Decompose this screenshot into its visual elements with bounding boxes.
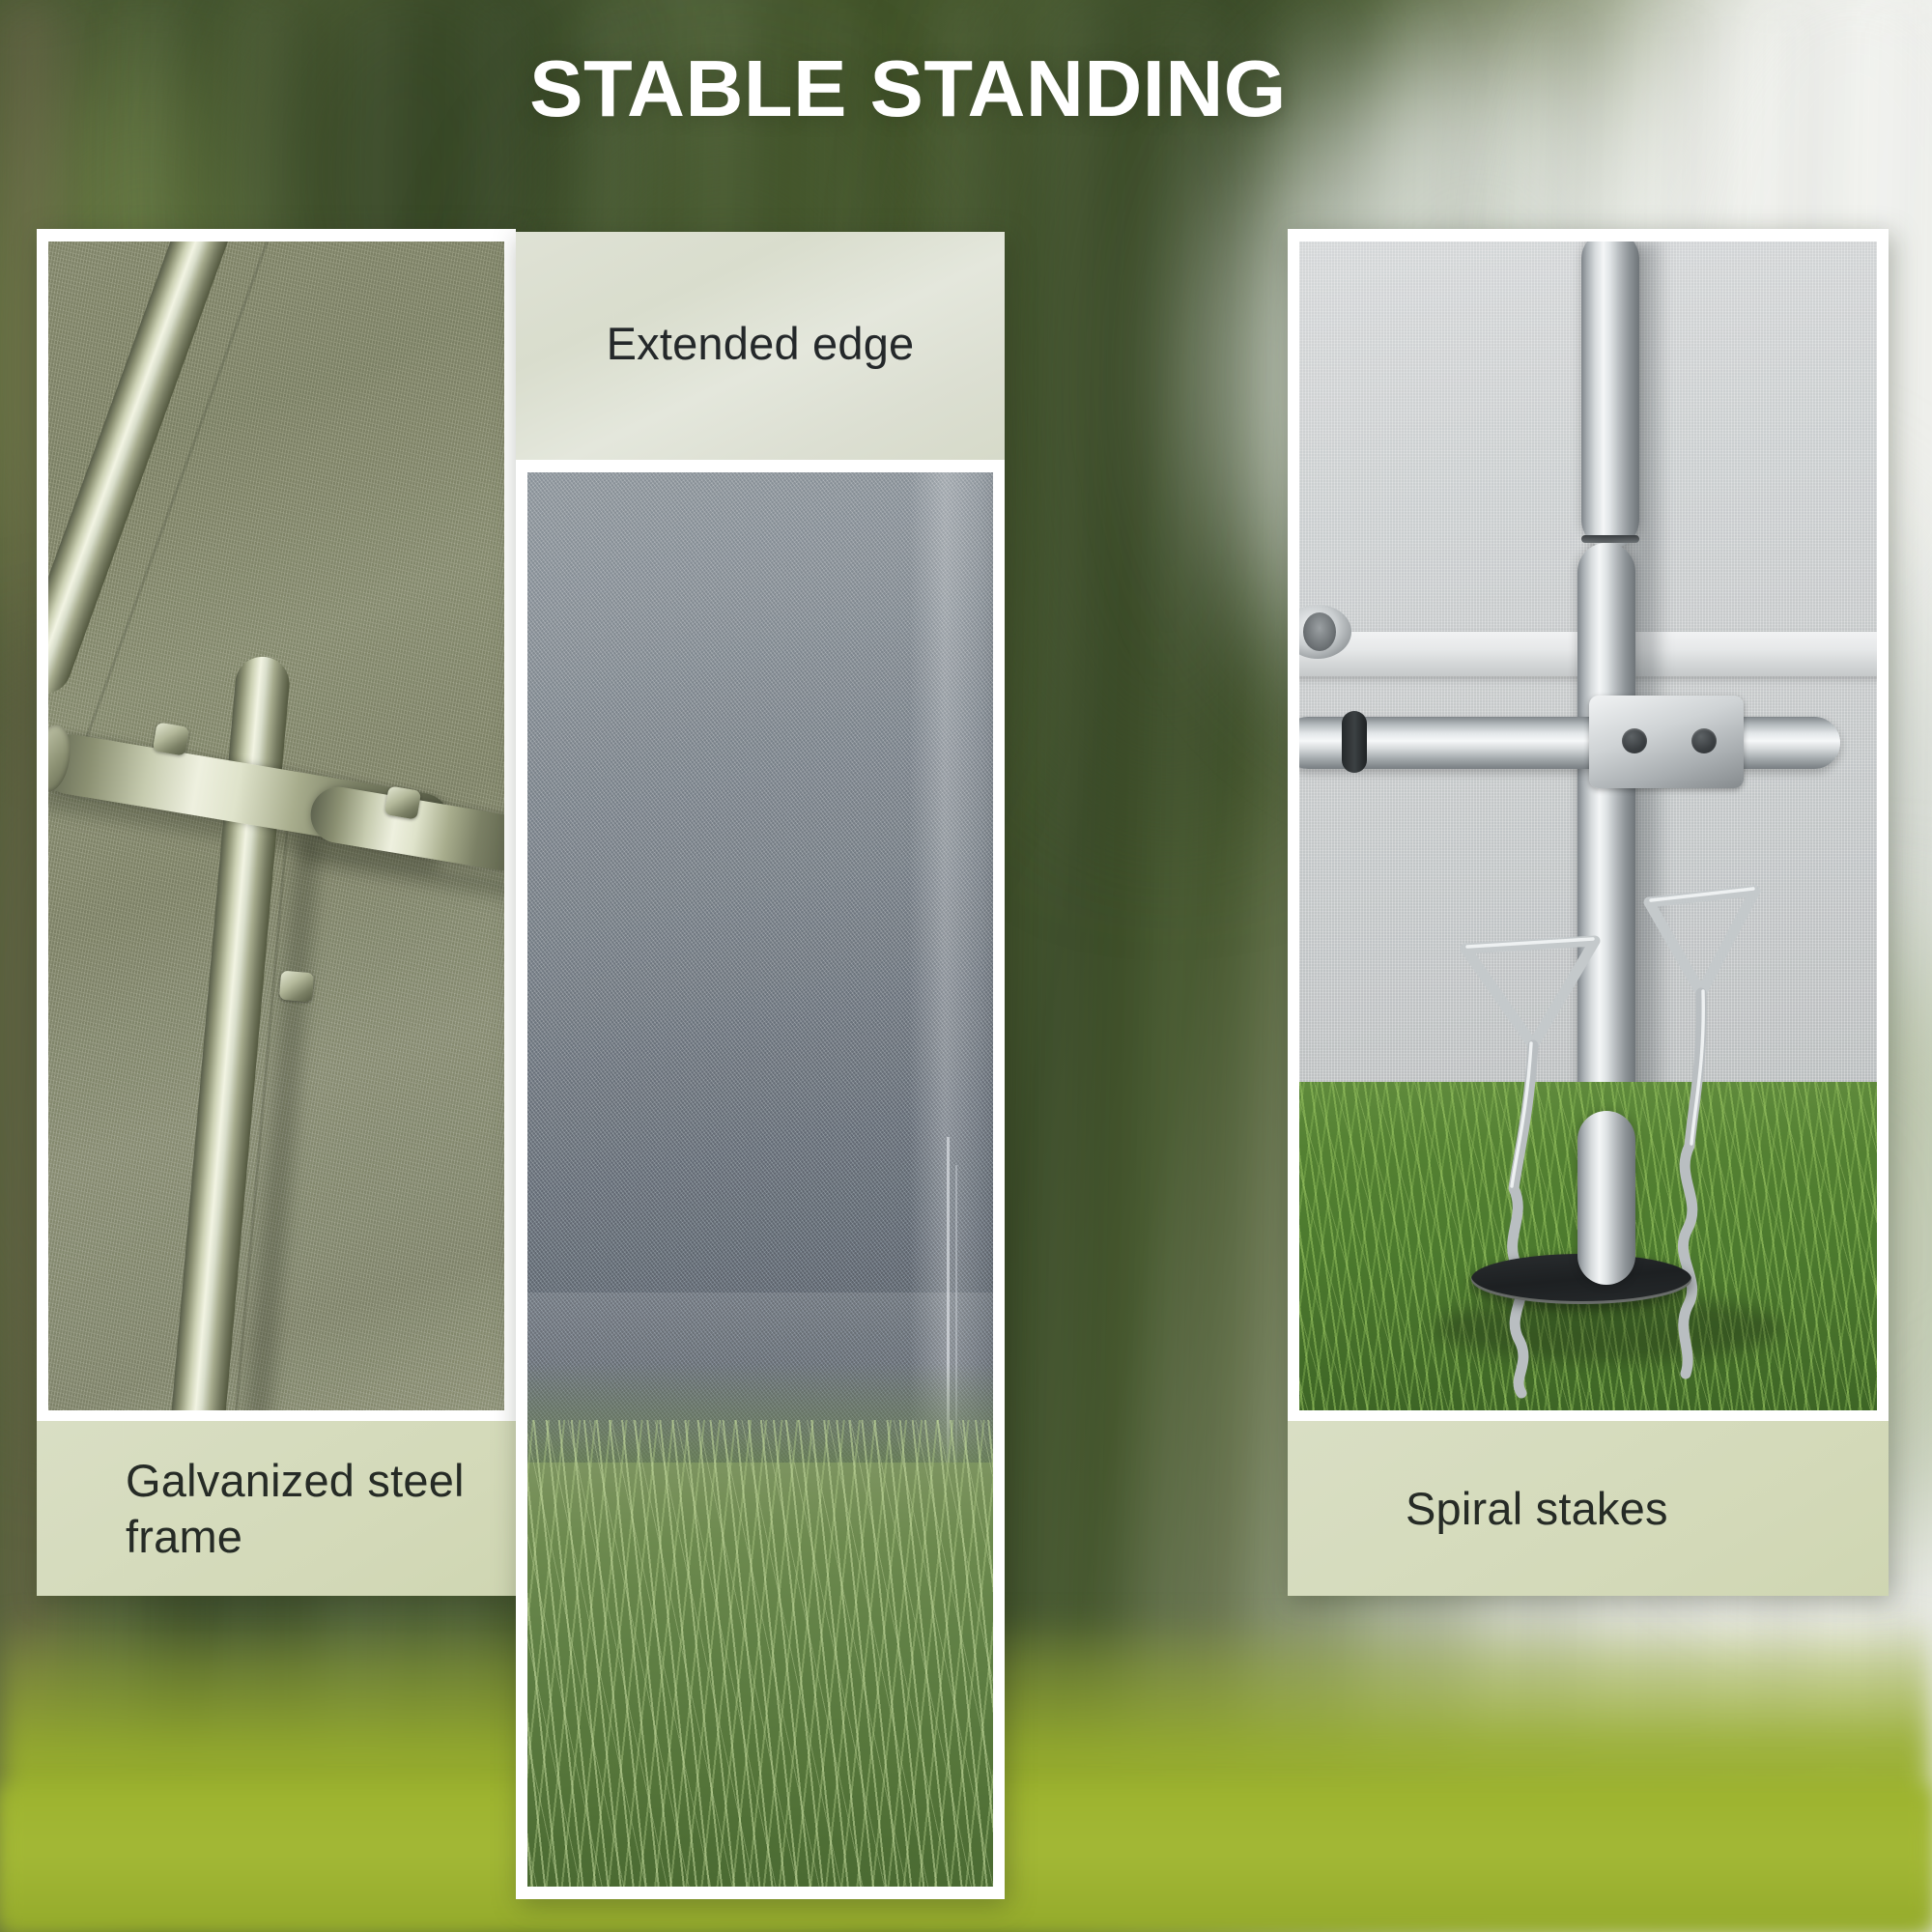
hex-bolt-lower — [279, 971, 314, 1003]
panel-spiral-stakes[interactable]: Spiral stakes — [1288, 229, 1889, 1811]
galvanized-steel-frame-photo — [48, 241, 504, 1410]
panel-galvanized-steel-frame[interactable]: Galvanized steel frame — [37, 229, 516, 1811]
hex-bolt-upper — [153, 722, 189, 755]
left-photo-frame — [37, 229, 516, 1421]
right-caption-bar: Spiral stakes — [1288, 1421, 1889, 1596]
pole-joint-seam — [1581, 535, 1639, 543]
hex-bolt-right — [384, 785, 421, 819]
bracket-hole-right — [1691, 728, 1717, 753]
caption-galvanized-steel-frame: Galvanized steel frame — [126, 1453, 516, 1564]
rubber-ring — [1342, 711, 1367, 773]
panel-extended-edge[interactable]: Extended edge — [516, 232, 1005, 1874]
page-title: STABLE STANDING — [0, 48, 1932, 128]
bracket-hole-left — [1622, 728, 1647, 753]
caption-spiral-stakes: Spiral stakes — [1406, 1481, 1668, 1536]
label-extended-edge: Extended edge — [607, 317, 915, 370]
grass-blades — [527, 1420, 993, 1887]
open-tube-bore — [1303, 612, 1336, 651]
extended-edge-label-bar: Extended edge — [516, 232, 1005, 460]
left-caption-bar: Galvanized steel frame — [37, 1421, 516, 1596]
connector-bracket — [1589, 696, 1744, 788]
right-photo-frame — [1288, 229, 1889, 1421]
spiral-stakes-photo — [1299, 241, 1877, 1410]
extended-edge-photo — [527, 472, 993, 1887]
mid-photo-frame — [516, 460, 1005, 1899]
vertical-pole-upper — [1581, 241, 1639, 549]
pole-foot — [1577, 1111, 1635, 1285]
